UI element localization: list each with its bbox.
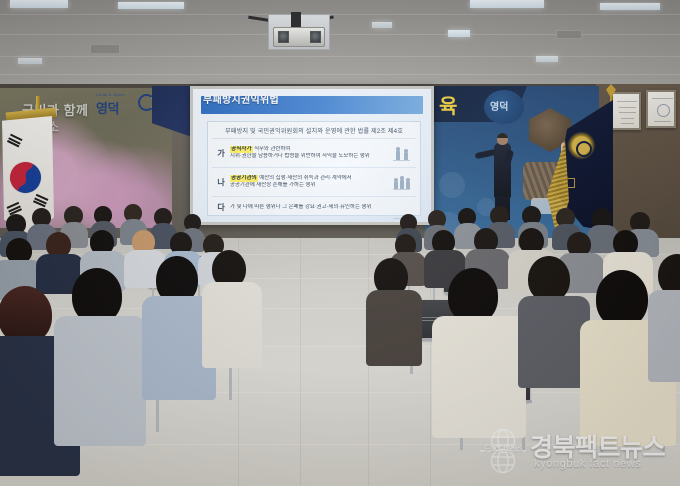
slide-row: 가 공직자가 직무와 관련하여 지위·권한을 남용하거나 법령을 위반하여 사익… — [212, 138, 416, 167]
framed-certificate — [646, 90, 676, 128]
slide-row-text: 가 및 나에 따른 행위나 그 은폐를 강요·권고·제의·유인하는 행위 — [230, 204, 416, 211]
slide-row-text: 공직자가 직무와 관련하여 지위·권한을 남용하거나 법령을 위반하여 사익을 … — [230, 146, 416, 160]
ceiling-light — [18, 58, 42, 64]
ceiling-projector — [273, 27, 325, 47]
ceiling-light — [448, 30, 470, 37]
slide-row-rest: 직무와 관련하여 — [254, 146, 290, 152]
ceiling-light — [470, 0, 544, 8]
slide-row-key: 가 — [212, 148, 230, 159]
ceiling-light — [10, 0, 68, 8]
slide-row-highlight: 공공기관의 — [230, 175, 258, 182]
slide-row: 나 공공기관의 예산의 집행·재산의 취득과 관리·계약에서 공공기관에 재산상… — [212, 167, 416, 196]
slide-row: 다 가 및 나에 따른 행위나 그 은폐를 강요·권고·제의·유인하는 행위 — [212, 196, 416, 218]
slide-row-key: 나 — [212, 177, 230, 188]
slide-title: 부패방지권익위법 — [203, 91, 279, 106]
logo-maintext: 영덕 — [96, 98, 119, 117]
slide-row-key: 다 — [212, 202, 230, 213]
slide-row-line2: 공공기관에 재산상 손해를 가하는 행위 — [230, 182, 394, 189]
slide-content-box: 부패방지 및 국민권익위원회의 설치와 운영에 관한 법률 제2조 제4호 가 … — [207, 121, 421, 216]
flag-emblem-icon — [566, 132, 598, 162]
conference-hall-scene: 군민과 함께 소 Clean & Green 영덕 2 육 영덕 — [0, 0, 680, 486]
framed-certificate — [611, 92, 641, 130]
slide-row-line1: 공직자가 직무와 관련하여 — [230, 146, 394, 153]
ceiling-light — [372, 22, 392, 28]
slide-row-line1: 공공기관의 예산의 집행·재산의 취득과 관리·계약에서 — [230, 175, 394, 182]
ceiling-light — [118, 2, 184, 9]
pictogram-meeting-icon — [392, 172, 412, 192]
pictogram-person-group-icon — [392, 143, 412, 163]
logo-subtext: Clean & Green — [96, 92, 125, 97]
ceiling-light — [536, 56, 558, 62]
ceiling-light — [600, 3, 660, 10]
slide-row-rest: 예산의 집행·재산의 취득과 관리·계약에서 — [259, 175, 351, 181]
slide-row-highlight: 공직자가 — [230, 146, 253, 153]
slide-row-line1: 가 및 나에 따른 행위나 그 은폐를 강요·권고·제의·유인하는 행위 — [230, 204, 394, 211]
ceiling — [0, 0, 680, 86]
projection-screen: 부패방지권익위법 부패방지 및 국민권익위원회의 설치와 운영에 관한 법률 제… — [190, 86, 434, 225]
banner-circle-text: 영덕 — [490, 98, 508, 113]
presenter-head — [497, 133, 508, 145]
presentation-slide: 부패방지권익위법 부패방지 및 국민권익위원회의 설치와 운영에 관한 법률 제… — [193, 89, 431, 222]
ceiling-vent — [556, 30, 582, 39]
slide-row-line2: 지위·권한을 남용하거나 법령을 위반하여 사익을 도모하는 행위 — [230, 153, 394, 160]
banner-right-char: 육 — [439, 90, 457, 119]
slide-subtitle: 부패방지 및 국민권익위원회의 설치와 운영에 관한 법률 제2조 제4호 — [208, 126, 420, 135]
banner-circle-badge: 영덕 — [484, 90, 524, 124]
ceiling-vent — [90, 44, 120, 54]
slide-row-text: 공공기관의 예산의 집행·재산의 취득과 관리·계약에서 공공기관에 재산상 손… — [230, 175, 416, 189]
